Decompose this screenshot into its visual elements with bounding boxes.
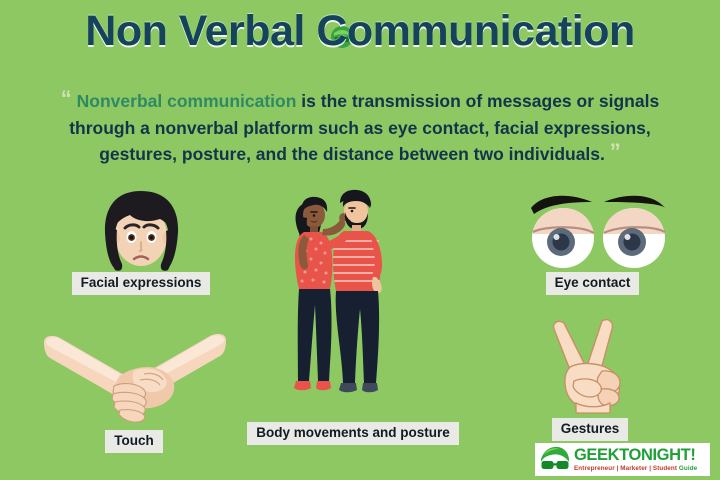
chip-label: Eye contact [546,272,640,295]
chip-label: Touch [105,430,163,453]
logo-word-text: GEEKTONIGHT [574,446,690,464]
quote-block: “ Nonverbal communication is the transmi… [16,88,704,168]
illustration-eye-contact [518,190,678,272]
label-facial-expressions: Facial expressions [56,272,226,295]
logo-wordmark: GEEKTONIGHT! [574,447,697,464]
quote-line-3: gestures, posture, and the distance betw… [16,141,704,168]
logo-text-block: GEEKTONIGHT! Entrepreneur | Marketer | S… [574,447,697,472]
quote-line-2: through a nonverbal platform such as eye… [16,115,704,142]
quote-line-3-text: gestures, posture, and the distance betw… [99,144,605,164]
chip-label: Facial expressions [72,272,211,295]
illustration-touch [40,330,230,425]
label-body-movements: Body movements and posture [228,422,478,445]
geektonight-mascot-icon [538,446,572,474]
label-touch: Touch [98,430,170,453]
chip-label: Gestures [552,418,629,441]
page-title: Non Verbal Communication [0,8,720,55]
logo-tagline-accent: Guide [679,465,697,472]
illustration-body-movements [278,185,428,420]
infographic-canvas: Non Verbal Communication “ Nonverbal com… [0,0,720,480]
logo-exclamation: ! [690,446,695,464]
illustration-gestures [540,315,640,415]
logo-tagline: Entrepreneur | Marketer | Student Guide [574,466,697,472]
illustration-facial-expressions [86,188,196,280]
logo-tagline-main: Entrepreneur | Marketer | Student [574,465,679,472]
quote-open-mark: “ [61,86,72,111]
geektonight-logo[interactable]: GEEKTONIGHT! Entrepreneur | Marketer | S… [535,443,710,476]
quote-line-1: “ Nonverbal communication is the transmi… [16,88,704,115]
label-gestures: Gestures [540,418,640,441]
quote-line-1-rest: is the transmission of messages or signa… [296,91,659,111]
chip-label: Body movements and posture [247,422,459,445]
label-eye-contact: Eye contact [520,272,665,295]
quote-close-mark: ” [610,139,621,164]
quote-highlight-term: Nonverbal communication [77,91,297,111]
